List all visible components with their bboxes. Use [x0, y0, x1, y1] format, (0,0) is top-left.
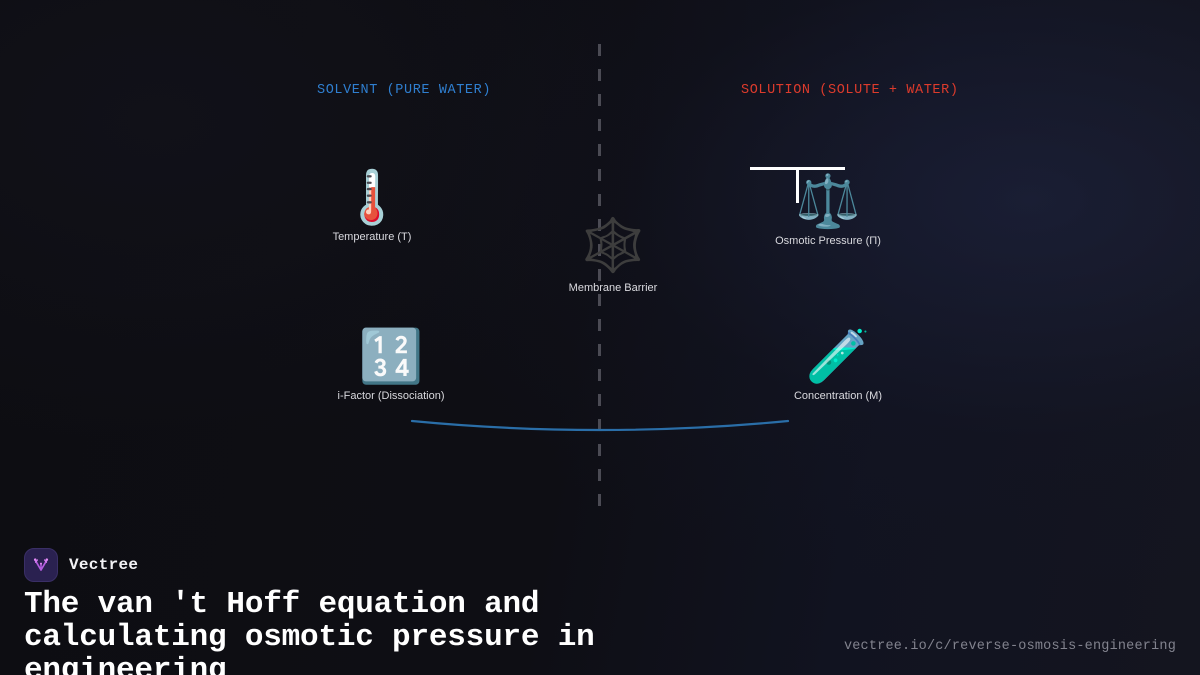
diagram-canvas: SOLVENT (PURE WATER) SOLUTION (SOLUTE + … — [0, 0, 1200, 675]
osmotic-pressure-bar-stem — [796, 167, 799, 203]
node-osmotic-pressure-label: Osmotic Pressure (Π) — [775, 235, 881, 247]
brand-name: Vectree — [69, 556, 138, 574]
node-osmotic-pressure[interactable]: ⚖️ Osmotic Pressure (Π) — [728, 176, 928, 247]
node-membrane-label: Membrane Barrier — [569, 282, 658, 294]
node-temperature[interactable]: 🌡️ Temperature (T) — [272, 172, 472, 243]
node-i-factor-label: i-Factor (Dissociation) — [338, 390, 445, 402]
node-concentration[interactable]: 🧪 Concentration (M) — [738, 331, 938, 402]
node-concentration-label: Concentration (M) — [794, 390, 882, 402]
site-url: vectree.io/c/reverse-osmosis-engineering — [844, 639, 1176, 654]
footer-bar: Vectree The van 't Hoff equation and cal… — [0, 505, 1200, 675]
test-tube-icon: 🧪 — [806, 331, 871, 383]
spider-web-icon: 🕸️ — [581, 220, 646, 272]
node-membrane[interactable]: 🕸️ Membrane Barrier — [513, 220, 713, 294]
input-numbers-icon: 🔢 — [359, 331, 424, 383]
page-title: The van 't Hoff equation and calculating… — [24, 589, 724, 675]
brand-row: Vectree — [24, 548, 138, 582]
node-temperature-label: Temperature (T) — [333, 231, 412, 243]
left-side-label: SOLVENT (PURE WATER) — [317, 83, 491, 98]
node-i-factor[interactable]: 🔢 i-Factor (Dissociation) — [291, 331, 491, 402]
right-side-label: SOLUTION (SOLUTE + WATER) — [741, 83, 959, 98]
vectree-tree-logo — [24, 548, 58, 582]
thermometer-icon: 🌡️ — [340, 172, 405, 224]
concentration-gradient-arc — [400, 405, 800, 445]
balance-scale-icon: ⚖️ — [796, 176, 861, 228]
